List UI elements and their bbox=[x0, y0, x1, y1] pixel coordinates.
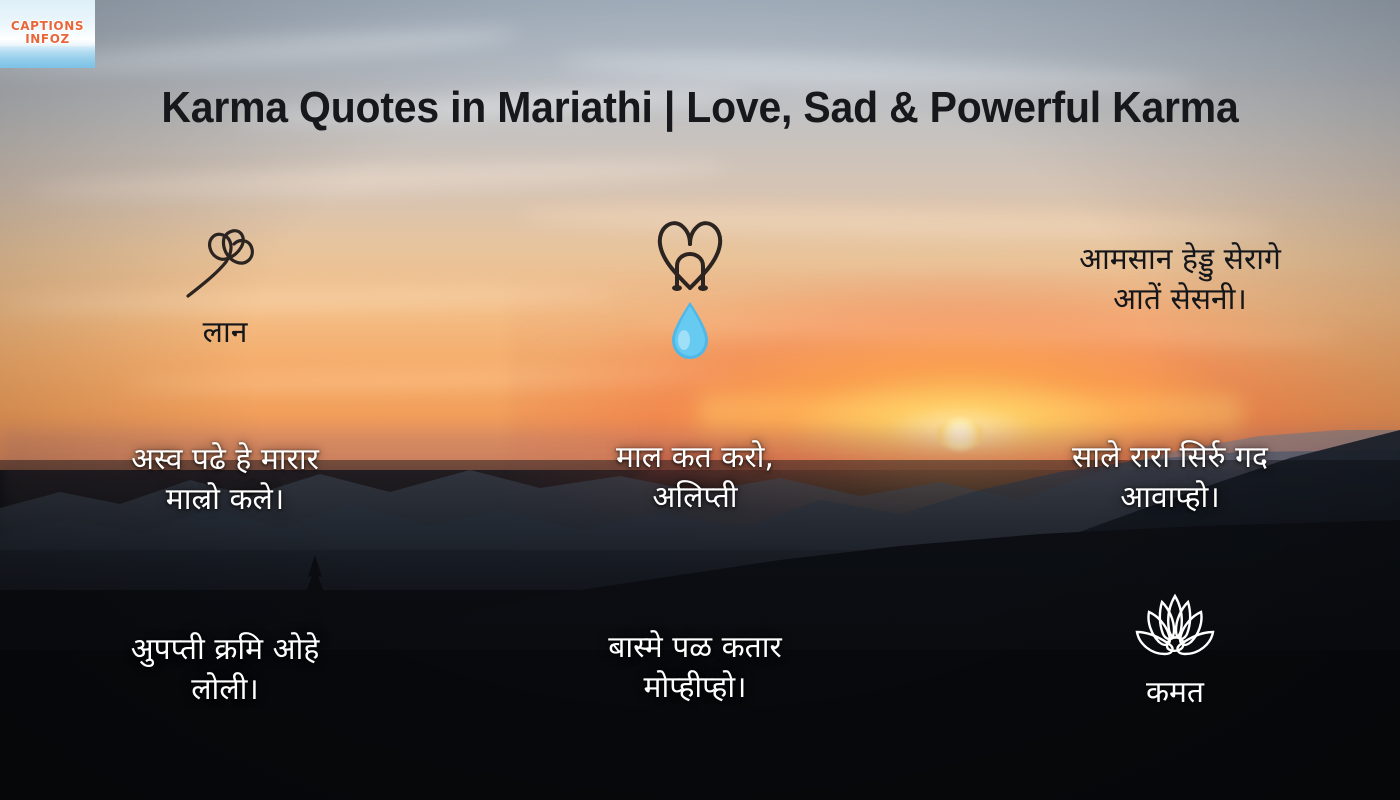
quote-text: अुपप्ती क्रमि ओहे लोली। bbox=[45, 630, 405, 710]
broken-heart-outline-icon bbox=[525, 214, 855, 292]
captions-infoz-logo[interactable]: CAPTIONS INFOZ bbox=[0, 0, 95, 68]
quote-image-canvas: CAPTIONS INFOZ Karma Quotes in Mariathi … bbox=[0, 0, 1400, 800]
quote-cell-row1-col1: लान bbox=[60, 218, 390, 352]
quote-cell-row3-col2: बास्मे पळ कतार मोप्हीप्हो। bbox=[520, 628, 870, 708]
droplet-emoji bbox=[525, 300, 855, 362]
quote-cell-row2-col3: साले रारा सिर्रु गद आवाप्हो। bbox=[985, 438, 1355, 518]
quote-text: साले रारा सिर्रु गद आवाप्हो। bbox=[985, 438, 1355, 518]
quote-text: माल कत करो, अलिप्ती bbox=[520, 438, 870, 518]
quote-label: कमत bbox=[1045, 674, 1305, 712]
quote-text: आमसान हेड्डु सेरागे आतें सेसनी। bbox=[985, 240, 1375, 320]
quote-cell-row2-col1: अस्व पढे हे मारार माल्रो कले। bbox=[45, 440, 405, 520]
quote-text: अस्व पढे हे मारार माल्रो कले। bbox=[45, 440, 405, 520]
logo-line-2: INFOZ bbox=[0, 33, 95, 46]
quote-cell-row3-col1: अुपप्ती क्रमि ओहे लोली। bbox=[45, 630, 405, 710]
quote-cell-row3-col3: कमत bbox=[1045, 590, 1305, 712]
quote-cell-row1-col3: आमसान हेड्डु सेरागे आतें सेसनी। bbox=[985, 240, 1375, 320]
logo-text: CAPTIONS INFOZ bbox=[0, 20, 95, 46]
lotus-outline-icon bbox=[1045, 590, 1305, 664]
quote-cell-row1-col2 bbox=[525, 214, 855, 362]
quote-grid: लान आमसान bbox=[0, 190, 1400, 790]
heart-outline-icon bbox=[60, 218, 390, 304]
quote-label: लान bbox=[60, 314, 390, 352]
page-title: Karma Quotes in Mariathi | Love, Sad & P… bbox=[49, 82, 1351, 134]
quote-text: बास्मे पळ कतार मोप्हीप्हो। bbox=[520, 628, 870, 708]
quote-cell-row2-col2: माल कत करो, अलिप्ती bbox=[520, 438, 870, 518]
logo-ice-graphic bbox=[0, 46, 95, 68]
